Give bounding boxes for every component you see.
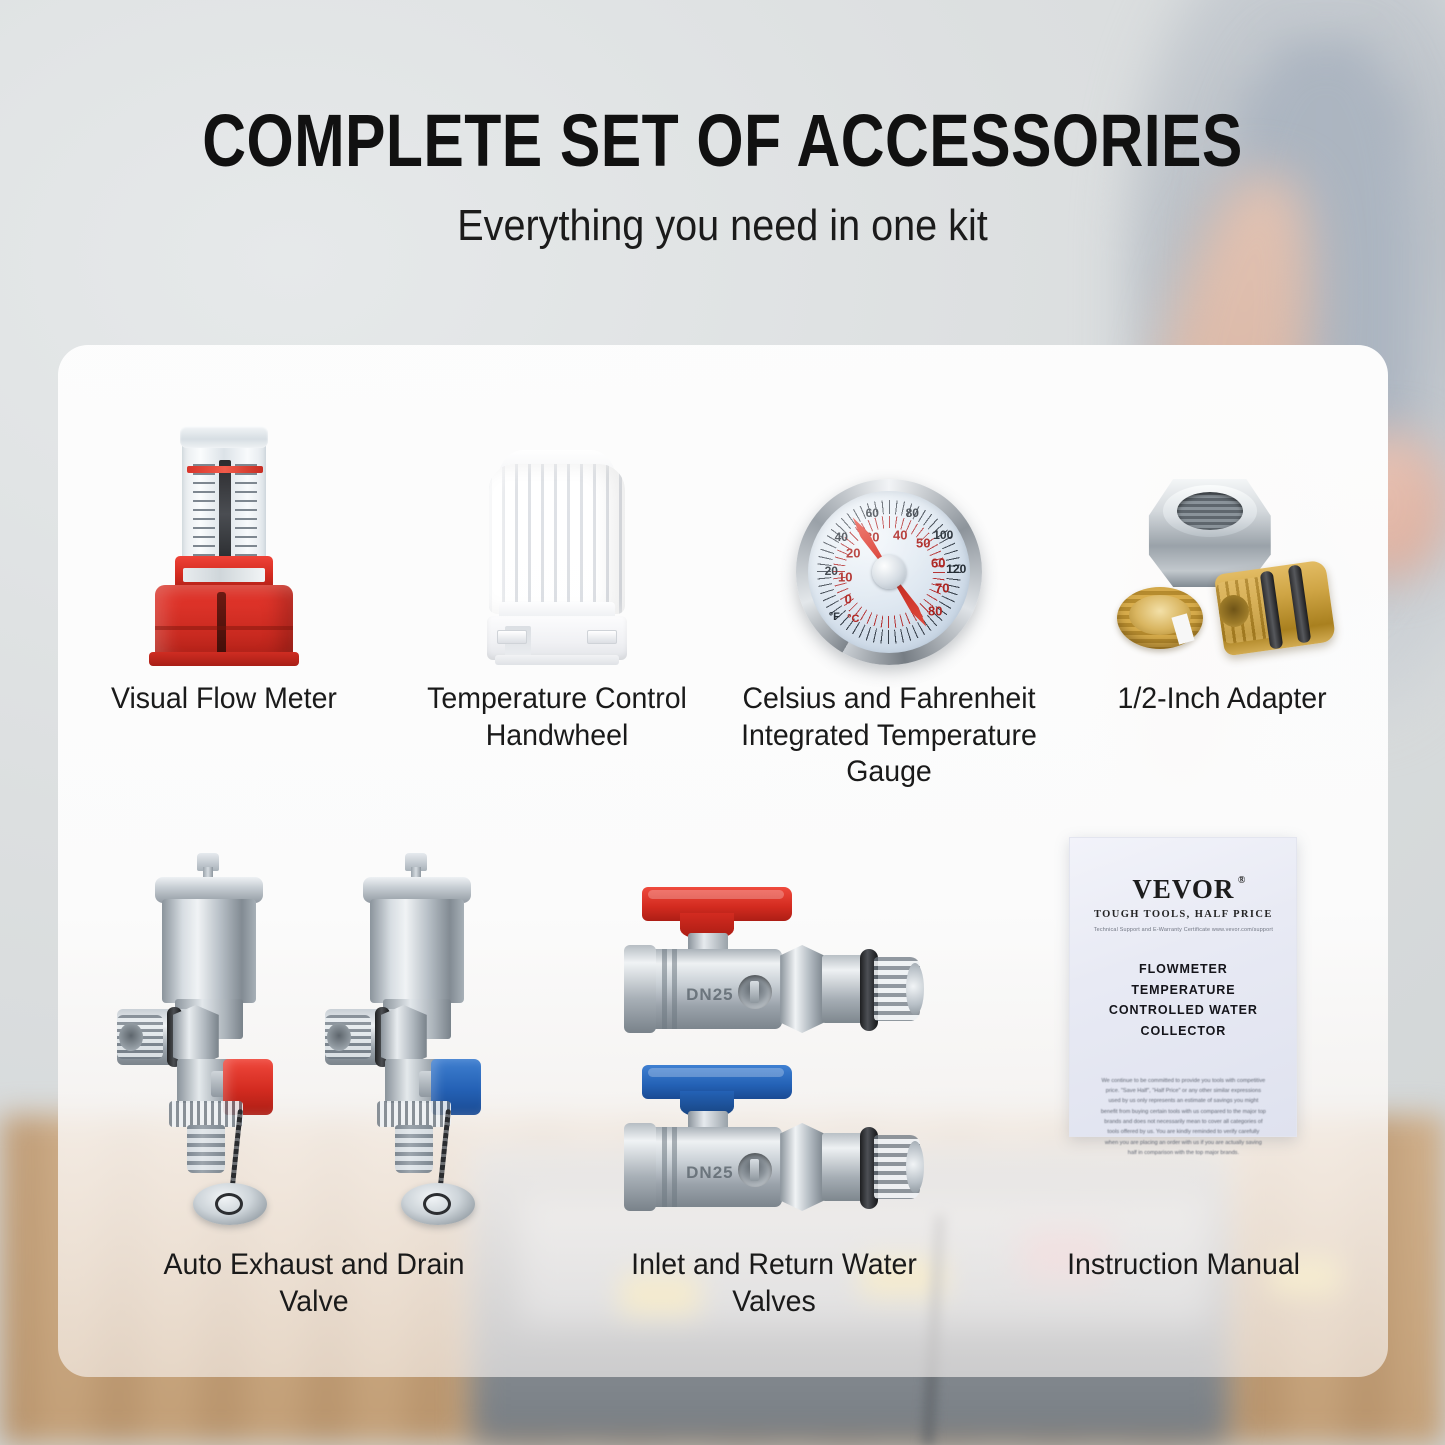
instruction-manual-cover: VEVOR ® TOUGH TOOLS, HALF PRICE Technica… [1069, 837, 1297, 1137]
accessory-item-temperature-gauge: 0 10 20 30 40 50 60 70 80 20 40 60 80 [723, 375, 1056, 795]
gauge-celsius-tick-70: 70 [935, 581, 949, 596]
page-subtitle: Everything you need in one kit [72, 201, 1373, 251]
gauge-fahrenheit-unit-label: °F [829, 611, 840, 623]
vevor-logo-text: VEVOR [1132, 874, 1234, 904]
manual-label: Instruction Manual [1067, 1247, 1300, 1284]
accessory-row-bottom: Auto Exhaust and Drain Valve DN25 [58, 825, 1388, 1345]
manual-body-text: We continue to be committed to provide y… [1088, 1076, 1278, 1159]
ball-valve-marking-red: DN25 [686, 985, 733, 1005]
handwheel-image [481, 375, 633, 665]
adapter-image [1107, 375, 1337, 665]
header: COMPLETE SET OF ACCESSORIES Everything y… [0, 0, 1445, 251]
gauge-fahrenheit-tick-80: 80 [906, 506, 919, 520]
flow-meter-label: Visual Flow Meter [111, 681, 337, 718]
temperature-gauge-label: Celsius and Fahrenheit Integrated Temper… [733, 681, 1047, 791]
gauge-celsius-tick-50: 50 [916, 536, 930, 551]
drain-valve-image [115, 825, 513, 1225]
gauge-celsius-tick-0: 0 [845, 592, 852, 607]
manual-title-line-1: FLOWMETER TEMPERATURE [1088, 959, 1278, 1000]
accessory-item-drain-valve: Auto Exhaust and Drain Valve [58, 825, 570, 1345]
gauge-celsius-tick-20: 20 [846, 546, 860, 561]
gauge-celsius-unit-label: °C [847, 613, 859, 625]
page-title: COMPLETE SET OF ACCESSORIES [130, 98, 1315, 183]
ball-valve-marking-blue: DN25 [686, 1163, 733, 1183]
accessory-item-manual: VEVOR ® TOUGH TOOLS, HALF PRICE Technica… [979, 825, 1388, 1345]
vevor-tagline: TOUGH TOOLS, HALF PRICE [1088, 909, 1278, 920]
accessory-row-top: Visual Flow Meter Temperature Control Ha… [58, 375, 1388, 795]
handwheel-label: Temperature Control Handwheel [400, 681, 714, 754]
gauge-celsius-tick-60: 60 [931, 556, 945, 571]
adapter-icon [1107, 475, 1337, 665]
manual-image: VEVOR ® TOUGH TOOLS, HALF PRICE Technica… [1069, 825, 1297, 1225]
temperature-gauge-icon: 0 10 20 30 40 50 60 70 80 20 40 60 80 [796, 479, 982, 665]
accessory-item-handwheel: Temperature Control Handwheel [391, 375, 724, 795]
flow-meter-icon [149, 430, 299, 665]
accessory-item-ball-valves: DN25 DN25 Inlet and Return Water Valves [570, 825, 979, 1345]
gauge-fahrenheit-tick-20: 20 [825, 564, 838, 578]
gauge-celsius-tick-40: 40 [893, 528, 907, 543]
handwheel-icon [481, 450, 633, 665]
ball-valve-red-icon: DN25 [624, 887, 924, 1047]
gauge-fahrenheit-tick-100: 100 [933, 528, 953, 542]
gauge-celsius-tick-10: 10 [838, 570, 852, 585]
gauge-hub [872, 555, 906, 589]
gauge-fahrenheit-tick-60: 60 [866, 506, 879, 520]
temperature-gauge-image: 0 10 20 30 40 50 60 70 80 20 40 60 80 [796, 375, 982, 665]
drain-valve-blue-icon [323, 853, 513, 1225]
manual-title-line-2: CONTROLLED WATER COLLECTOR [1088, 1000, 1278, 1041]
gauge-fahrenheit-tick-40: 40 [835, 530, 848, 544]
accessory-item-adapter: 1/2-Inch Adapter [1056, 375, 1389, 795]
accessories-card: Visual Flow Meter Temperature Control Ha… [58, 345, 1388, 1377]
gauge-fahrenheit-tick-120: 120 [946, 562, 966, 576]
gauge-celsius-tick-80: 80 [928, 604, 942, 619]
accessory-item-flow-meter: Visual Flow Meter [58, 375, 391, 795]
registered-mark-icon: ® [1238, 875, 1246, 886]
manual-support-line: Technical Support and E-Warranty Certifi… [1088, 927, 1278, 933]
drain-valve-label: Auto Exhaust and Drain Valve [157, 1247, 471, 1320]
ball-valve-blue-icon: DN25 [624, 1065, 924, 1225]
flow-meter-image [149, 375, 299, 665]
drain-valve-red-icon [115, 853, 305, 1225]
vevor-logo: VEVOR ® [1132, 874, 1234, 905]
ball-valves-label: Inlet and Return Water Valves [617, 1247, 931, 1320]
ball-valves-image: DN25 DN25 [624, 825, 924, 1225]
adapter-label: 1/2-Inch Adapter [1117, 681, 1326, 718]
